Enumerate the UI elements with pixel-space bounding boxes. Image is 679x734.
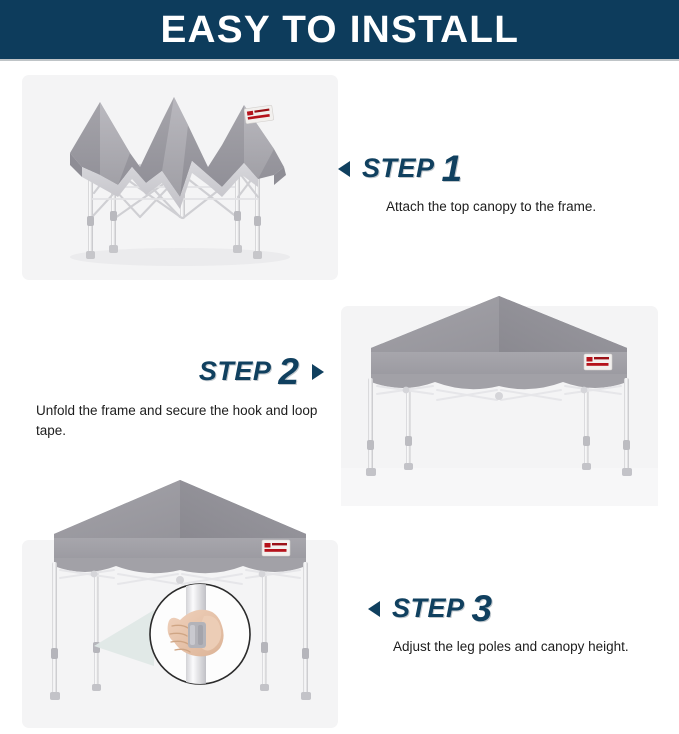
triangle-left-icon [338, 161, 350, 177]
step-2-number: 2 [278, 355, 299, 388]
logo-patch [584, 354, 612, 370]
step-1-heading: STEP 1 [338, 152, 668, 185]
page-title: EASY TO INSTALL [160, 11, 519, 49]
step-2-description: Unfold the frame and secure the hook and… [36, 401, 324, 440]
logo-patch [262, 540, 290, 556]
step-2-block: STEP 2 Unfold the frame and secure the h… [14, 355, 324, 440]
step-3-word: STEP [392, 593, 465, 624]
step-2-heading: STEP 2 [14, 355, 324, 388]
canopy-leg-adjust-photo [22, 470, 338, 728]
step-1-word: STEP [362, 153, 435, 184]
canopy-truss-joints [91, 571, 266, 584]
floor-area [341, 468, 658, 506]
step-1-number: 1 [442, 152, 463, 185]
logo-patch [244, 105, 274, 124]
magnifier-connector-wedge [94, 610, 154, 666]
step-2-word: STEP [199, 356, 272, 387]
triangle-left-icon [368, 601, 380, 617]
canopy-assembled-photo [341, 290, 658, 506]
canopy-valance-scallop [371, 374, 627, 389]
step-1-block: STEP 1 Attach the top canopy to the fram… [338, 152, 668, 217]
header-divider [0, 59, 679, 61]
step-3-number: 3 [472, 592, 493, 625]
step-3-heading: STEP 3 [368, 592, 668, 625]
step-1-description: Attach the top canopy to the frame. [386, 197, 656, 217]
magnifier-circle-hand-on-leg-slider [150, 584, 250, 684]
step-3-block: STEP 3 Adjust the leg poles and canopy h… [368, 592, 668, 657]
page-header-banner: EASY TO INSTALL [0, 0, 679, 59]
triangle-right-icon [312, 364, 324, 380]
canopy-draped-over-frame-photo [22, 75, 338, 280]
step-3-description: Adjust the leg poles and canopy height. [393, 637, 668, 657]
canopy-feet [50, 684, 311, 700]
canopy-valance-scallop [54, 558, 306, 573]
